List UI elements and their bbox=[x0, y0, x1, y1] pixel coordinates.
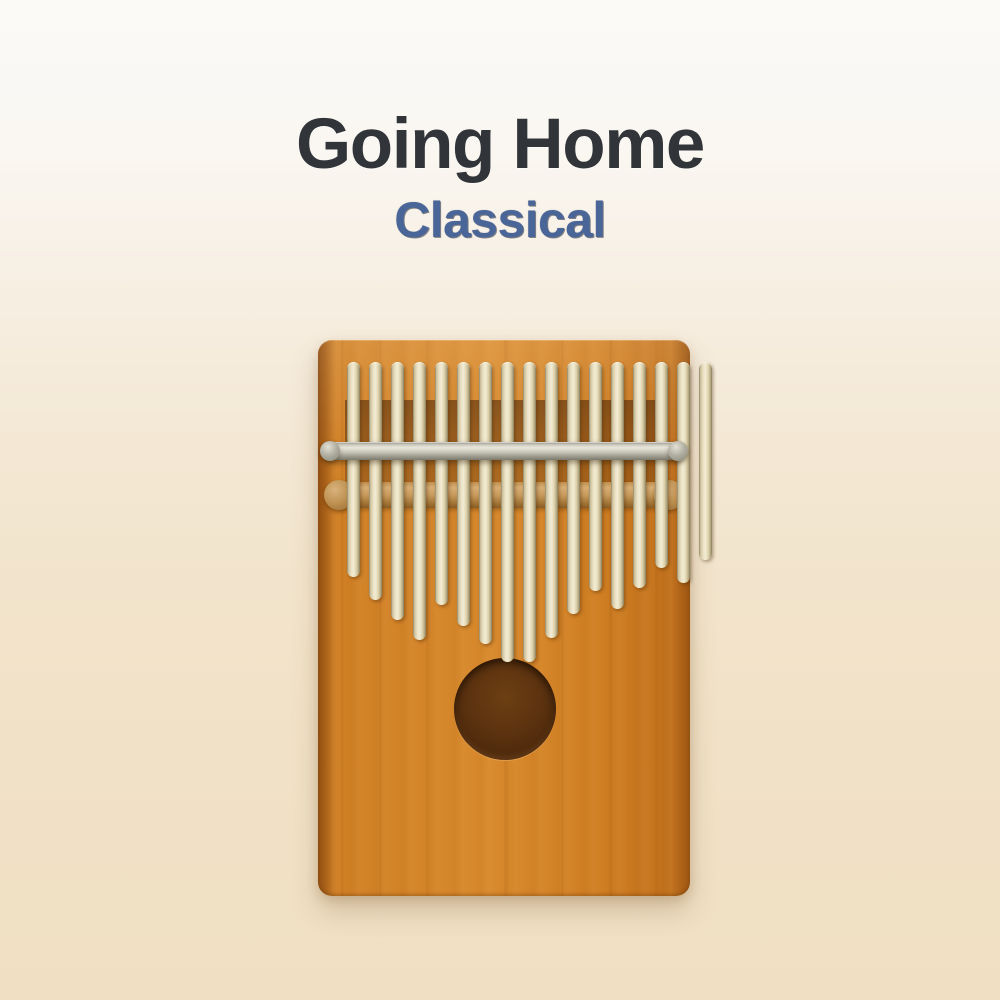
wooden-bridge-cap-left bbox=[324, 480, 354, 510]
wood-grain-texture bbox=[318, 340, 690, 896]
wooden-bridge-cap-right bbox=[654, 480, 684, 510]
header: Going Home Classical bbox=[0, 0, 1000, 246]
kalimba-tine[interactable] bbox=[699, 362, 712, 560]
metal-bridge-bar bbox=[323, 442, 685, 460]
body-side-rail-right bbox=[672, 340, 690, 896]
body-side-rail-left bbox=[318, 340, 336, 896]
metal-bar-cap-right bbox=[668, 441, 688, 461]
kalimba-illustration bbox=[318, 340, 690, 896]
wooden-bridge-rod bbox=[327, 482, 681, 508]
metal-bar-cap-left bbox=[320, 441, 340, 461]
page-title: Going Home bbox=[0, 108, 1000, 182]
sound-hole bbox=[454, 658, 556, 760]
song-subtitle: Classical bbox=[0, 194, 1000, 247]
kalimba-body bbox=[318, 340, 690, 896]
